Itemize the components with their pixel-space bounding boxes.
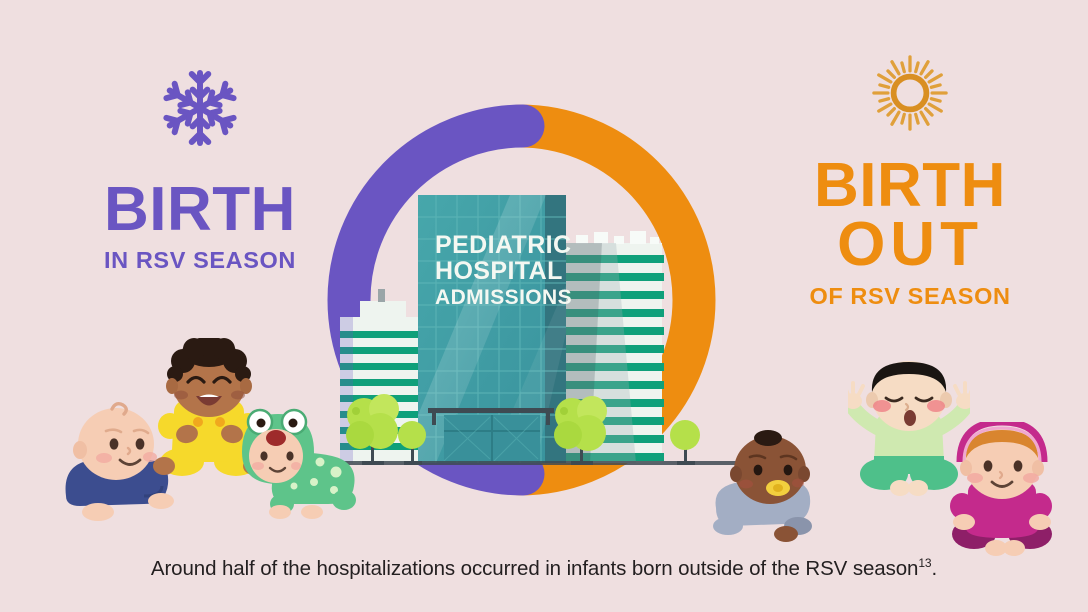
birth-in-rsv-season-subtitle: IN RSV SEASON [62,247,338,274]
caption-reference: 13 [918,556,931,570]
hospital-sign: PEDIATRIC HOSPITAL ADMISSIONS [435,231,572,309]
birth-in-rsv-season-title: BIRTH [62,181,338,238]
birth-out-title-line2: OUT [760,216,1060,273]
baby-crawling-grey-pacifier [712,430,832,553]
svg-text:ADMISSIONS: ADMISSIONS [435,286,572,309]
svg-text:HOSPITAL: HOSPITAL [435,257,563,285]
caption-text: Around half of the hospitalizations occu… [151,557,918,580]
baby-sitting-magenta-headband [944,422,1062,567]
birth-out-of-rsv-season-subtitle: OF RSV SEASON [760,283,1060,310]
infographic-canvas: BIRTH IN RSV SEASON BIRTH OUT OF RSV SEA… [0,0,1088,612]
snowflake-icon [62,62,338,159]
birth-out-of-rsv-season-title: BIRTH OUT [760,157,1060,273]
baby-crawling-dino-costume [236,400,364,525]
svg-text:PEDIATRIC: PEDIATRIC [435,231,571,259]
caption-terminator: . [932,557,938,580]
sun-icon [760,52,1060,139]
birth-in-rsv-season-label: BIRTH IN RSV SEASON [62,62,338,274]
hospital-entrance [428,408,554,461]
pediatric-hospital-illustration: PEDIATRIC HOSPITAL ADMISSIONS [340,165,744,485]
caption: Around half of the hospitalizations occu… [0,556,1088,581]
birth-out-of-rsv-season-label: BIRTH OUT OF RSV SEASON [760,52,1060,310]
